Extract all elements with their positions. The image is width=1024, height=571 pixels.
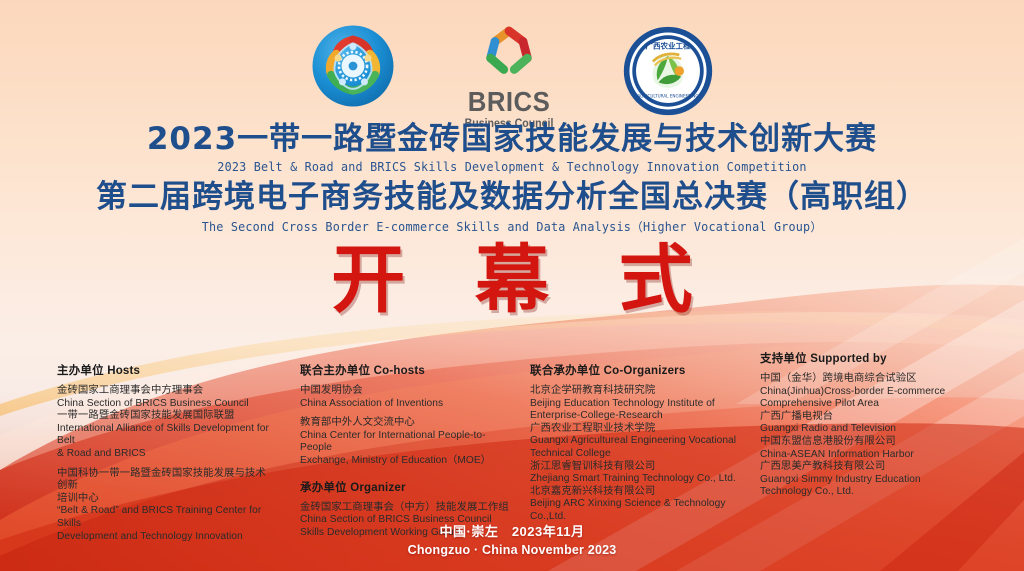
credits-line: 北京嘉克新兴科技有限公司 (530, 486, 745, 499)
credits-heading-supporters: 支持单位 Supported by (760, 350, 965, 366)
footer-location-cn: 中国·崇左 2023年11月 (0, 521, 1024, 540)
competition-title-en: 2023 Belt & Road and BRICS Skills Develo… (10, 160, 1014, 174)
credits-line: & Road and BRICS (57, 448, 271, 461)
credits-line: Guangxi Radio and Television (760, 423, 965, 436)
credits-line: Beijing Education Technology Institute o… (530, 398, 745, 411)
credits-group: 教育部中外人文交流中心China Center for Internationa… (300, 417, 512, 467)
credits-line: 金砖国家工商理事会中方理事会 (57, 385, 271, 398)
credits-groups-cohosts: 中国发明协会China Association of Inventions教育部… (300, 385, 512, 468)
credits-heading-cohosts: 联合主办单位 Co-hosts (300, 362, 512, 378)
credits-groups-hosts: 金砖国家工商理事会中方理事会China Section of BRICS Bus… (57, 385, 271, 543)
event-subtitle-cn: 第二届跨境电子商务技能及数据分析全国总决赛（高职组） (0, 180, 1024, 214)
credits-line: Guangxi Simmy Industry Education (760, 474, 965, 487)
credits-line: Exchange, Ministry of Education（MOE） (300, 455, 512, 468)
guangxi-agricultural-engineering-college-logo: 广西农业工程 AGRICULTURAL ENGINEERING (621, 18, 715, 123)
credits-line: 广西思美产教科技有限公司 (760, 461, 965, 474)
brics-business-council-logo: BRICS Business Council (455, 24, 563, 131)
credits-line: 中国东盟信息港股份有限公司 (760, 436, 965, 449)
credits-group: 中国发明协会China Association of Inventions (300, 385, 512, 410)
credits-line: Guangxi Agricultureal Engineering Vocati… (530, 435, 745, 448)
credits-group: 金砖国家工商理事会中方理事会China Section of BRICS Bus… (57, 385, 271, 461)
credits-heading-hosts: 主办单位 Hosts (57, 362, 271, 378)
credits-heading-organizer: 承办单位 Organizer (300, 479, 512, 495)
credits-line: China(Jinhua)Cross-border E-commerce (760, 386, 965, 399)
credits-line: China Section of BRICS Business Council (57, 398, 271, 411)
credits-line: 金砖国家工商理事会（中方）技能发展工作组 (300, 502, 512, 515)
credits-section: 主办单位 Hosts 金砖国家工商理事会中方理事会China Section o… (0, 362, 1024, 527)
credits-line: 培训中心 (57, 493, 271, 506)
credits-groups-coorganizers: 北京企学研教育科技研究院Beijing Education Technology… (530, 385, 745, 524)
footer-location-en: Chongzuo · China November 2023 (0, 543, 1024, 557)
credits-line: 广西广播电视台 (760, 411, 965, 424)
credits-line: 中国发明协会 (300, 385, 512, 398)
credits-line: Zhejiang Smart Training Technology Co., … (530, 473, 745, 486)
event-location-date: 中国·崇左 2023年11月 Chongzuo · China November… (0, 521, 1024, 557)
event-subtitle-en: The Second Cross Border E-commerce Skill… (10, 218, 1014, 235)
credits-heading-coorganizers: 联合承办单位 Co-Organizers (530, 362, 745, 378)
credits-line: 中国科协一带一路暨金砖国家技能发展与技术创新 (57, 468, 271, 493)
svg-text:AGRICULTURAL ENGINEERING: AGRICULTURAL ENGINEERING (637, 93, 698, 98)
credits-line: China Center for International People-to… (300, 430, 512, 455)
credits-line: 中国（金华）跨境电商综合试验区 (760, 373, 965, 386)
credits-line: Comprehensive Pilot Area (760, 398, 965, 411)
logo-row: BRICS Business Council 广西农业工程 AGRICULTUR… (0, 18, 1024, 126)
svg-text:广西农业工程: 广西农业工程 (645, 40, 691, 50)
credits-line: China Association of Inventions (300, 398, 512, 411)
credits-line: 广西农业工程职业技术学院 (530, 423, 745, 436)
credits-column-supporters: 支持单位 Supported by 中国（金华）跨境电商综合试验区China(J… (760, 350, 965, 506)
title-block: 2023一带一路暨金砖国家技能发展与技术创新大赛 2023 Belt & Roa… (0, 122, 1024, 235)
alliance-globe-star-logo (309, 18, 397, 115)
event-backdrop-poster: BRICS Business Council 广西农业工程 AGRICULTUR… (0, 0, 1024, 571)
competition-title-cn: 2023一带一路暨金砖国家技能发展与技术创新大赛 (0, 122, 1024, 156)
credits-column-cohosts: 联合主办单位 Co-hosts 中国发明协会China Association … (300, 362, 512, 546)
brics-wordmark: BRICS (459, 88, 558, 116)
credits-line: Enterprise-College-Research (530, 410, 745, 423)
credits-group: 中国（金华）跨境电商综合试验区China(Jinhua)Cross-border… (760, 373, 965, 499)
credits-line: Technical College (530, 448, 745, 461)
credits-line: 浙江思睿智训科技有限公司 (530, 461, 745, 474)
credits-column-coorganizers: 联合承办单位 Co-Organizers 北京企学研教育科技研究院Beijing… (530, 362, 745, 531)
credits-line: International Alliance of Skills Develop… (57, 423, 271, 448)
credits-group: 北京企学研教育科技研究院Beijing Education Technology… (530, 385, 745, 524)
credits-line: 一带一路暨金砖国家技能发展国际联盟 (57, 410, 271, 423)
opening-ceremony-headline: 开 幕 式 (0, 243, 1024, 317)
credits-line: Technology Co., Ltd. (760, 486, 965, 499)
credits-line: 教育部中外人文交流中心 (300, 417, 512, 430)
credits-line: 北京企学研教育科技研究院 (530, 385, 745, 398)
credits-line: China-ASEAN Information Harbor (760, 449, 965, 462)
credits-groups-supporters: 中国（金华）跨境电商综合试验区China(Jinhua)Cross-border… (760, 373, 965, 499)
credits-line: Beijing ARC Xinxing Science & Technology (530, 498, 745, 511)
